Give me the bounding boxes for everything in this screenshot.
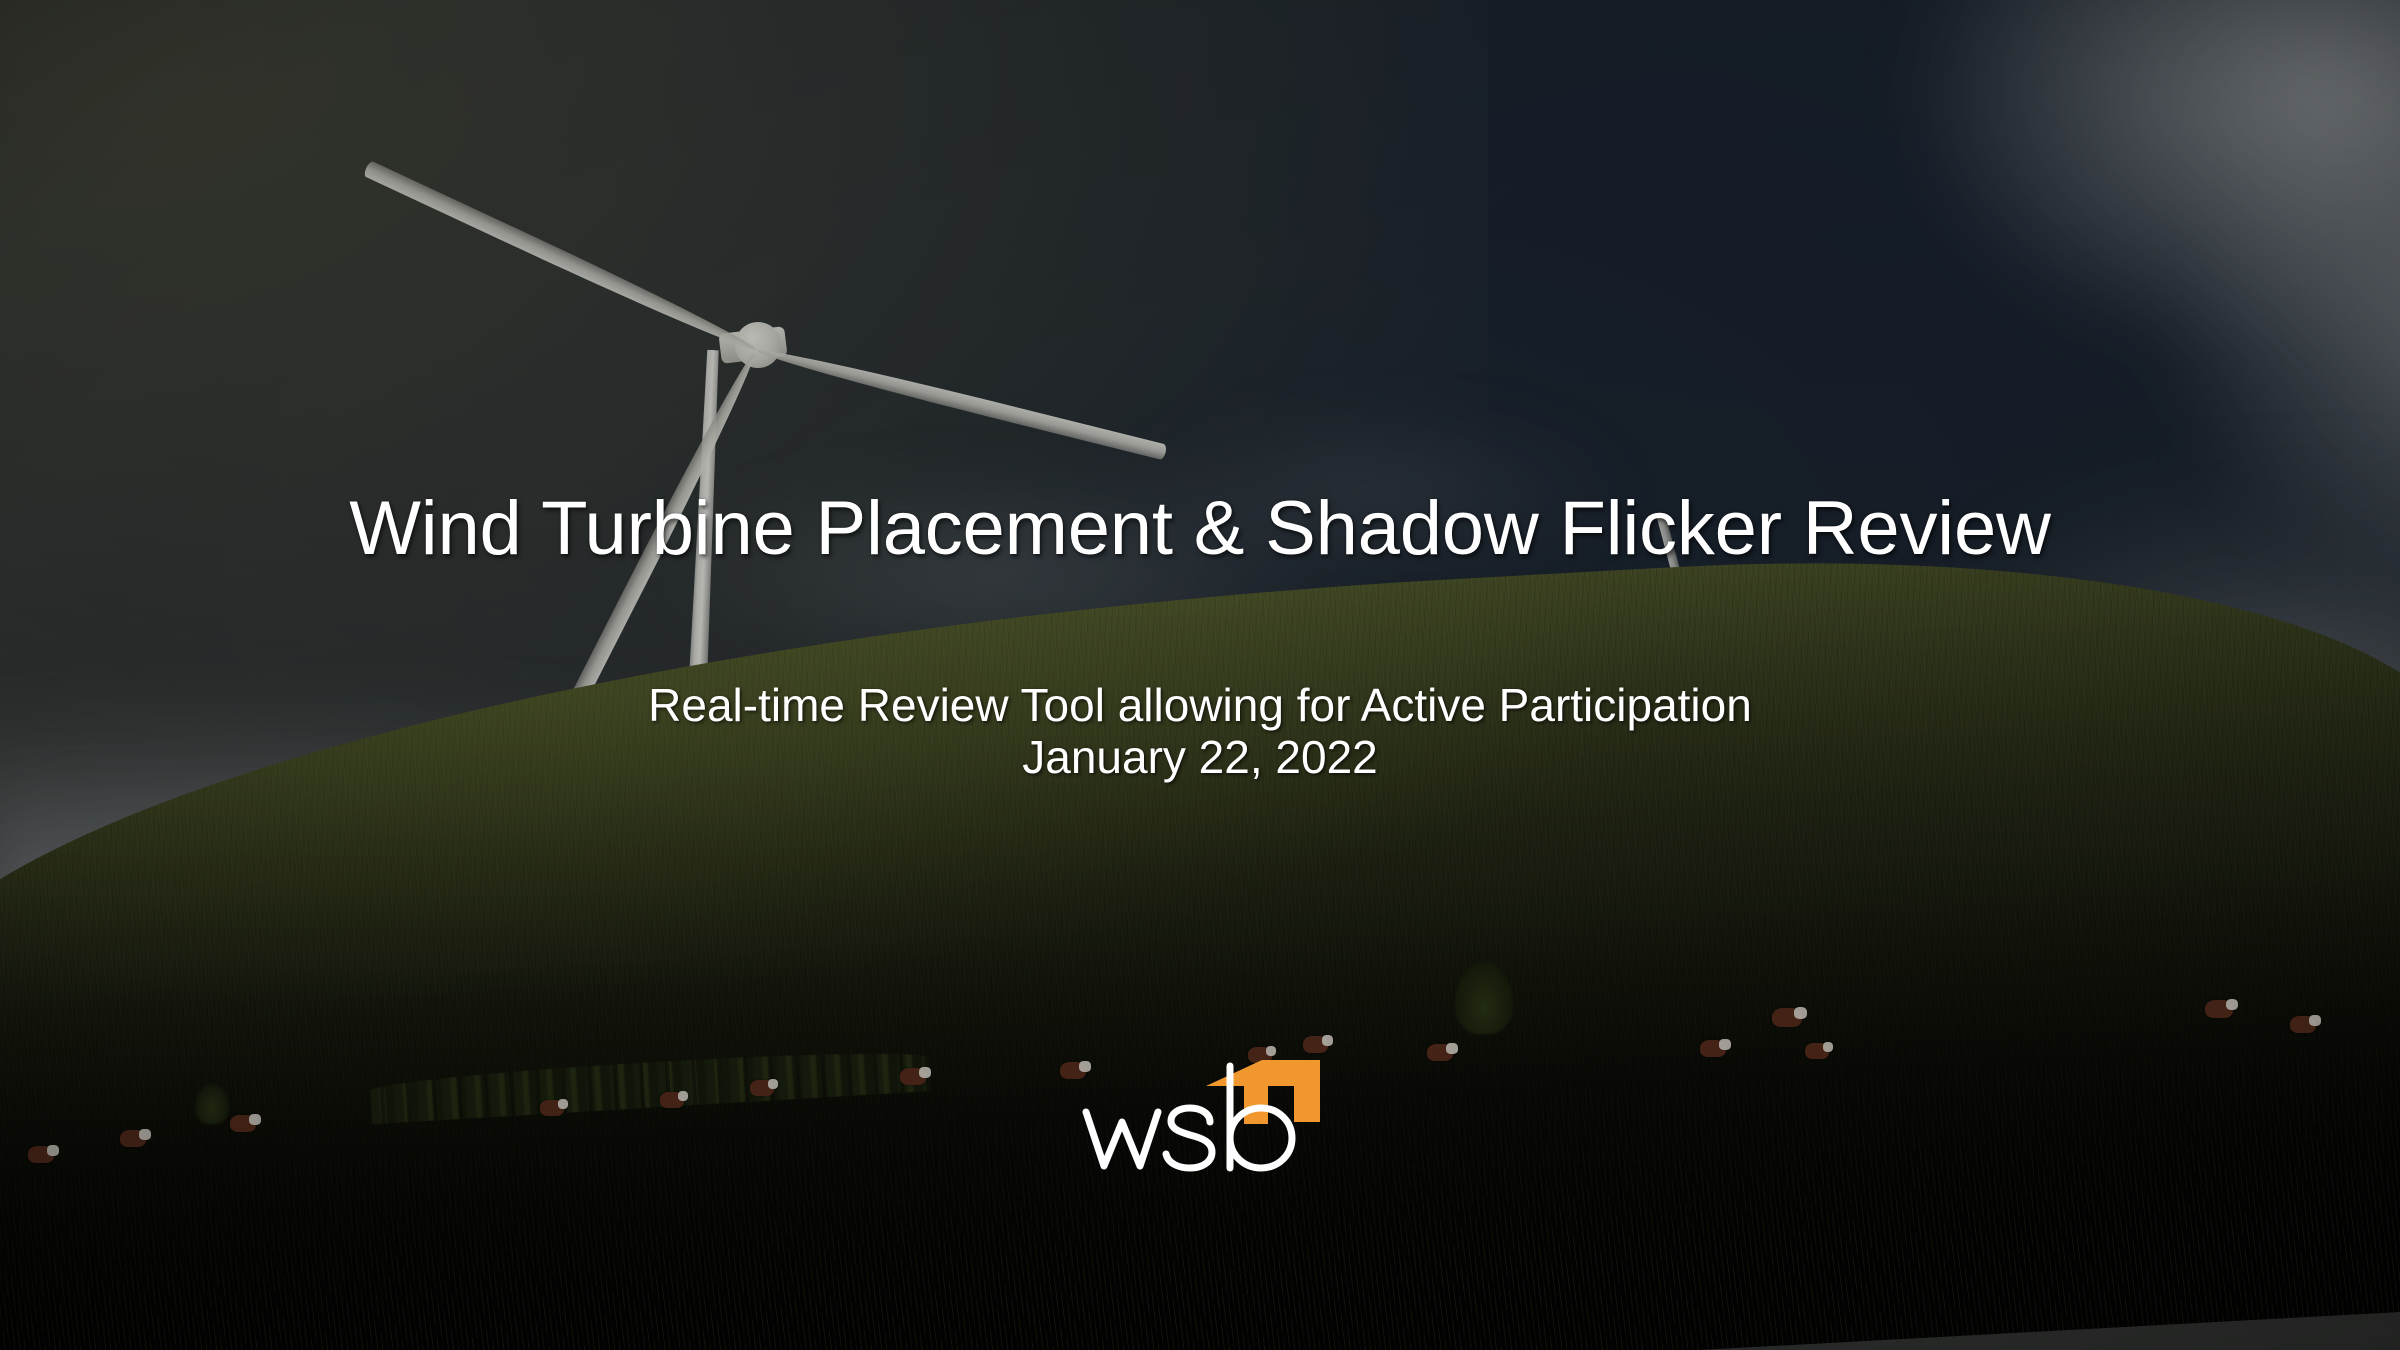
slide-subtitle-line-1: Real-time Review Tool allowing for Activ… <box>0 680 2400 732</box>
slide-content: Wind Turbine Placement & Shadow Flicker … <box>0 0 2400 1350</box>
title-slide: Wind Turbine Placement & Shadow Flicker … <box>0 0 2400 1350</box>
slide-subtitle: Real-time Review Tool allowing for Activ… <box>0 680 2400 783</box>
slide-title: Wind Turbine Placement & Shadow Flicker … <box>0 491 2400 567</box>
orange-arrow-mark <box>1206 1060 1320 1124</box>
slide-date: January 22, 2022 <box>0 732 2400 784</box>
wsb-logo <box>1080 1050 1330 1180</box>
wsb-logo-svg <box>1080 1050 1330 1180</box>
